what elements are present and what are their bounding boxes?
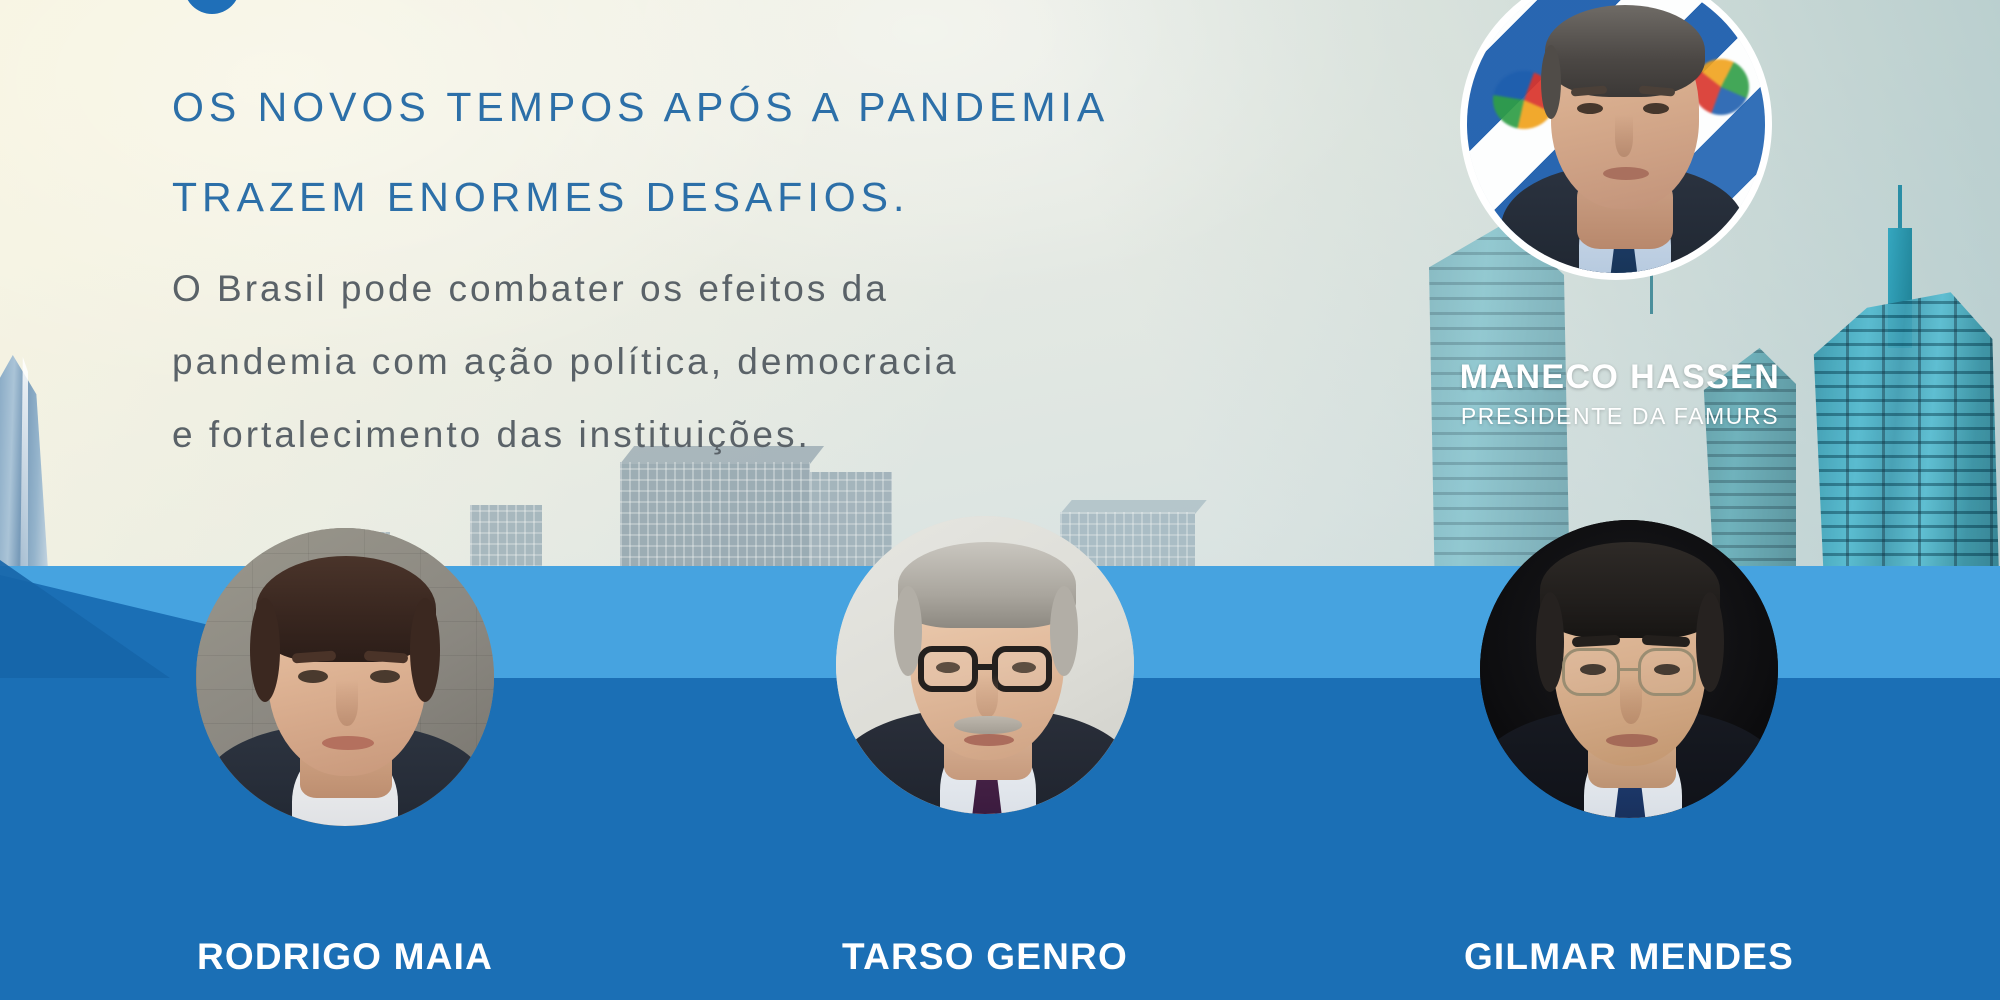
- headline-line-2: TRAZEM ENORMES DESAFIOS.: [172, 152, 1312, 242]
- genro-nose: [976, 674, 998, 718]
- subcopy-line-1: O Brasil pode combater os efeitos da: [172, 252, 1332, 325]
- speaker-name-hassen: MANECO HASSEN: [1410, 358, 1830, 397]
- genro-mouth: [964, 734, 1014, 746]
- genro-hair-side-right: [1050, 586, 1078, 676]
- caption-rodrigo-maia: RODRIGO MAIA: [135, 936, 555, 986]
- event-poster: OS NOVOS TEMPOS APÓS A PANDEMIA TRAZEM E…: [0, 0, 2000, 1000]
- hassen-hair: [1545, 5, 1705, 97]
- headline: OS NOVOS TEMPOS APÓS A PANDEMIA TRAZEM E…: [172, 62, 1312, 242]
- subcopy-line-2: pandemia com ação política, democracia: [172, 325, 1332, 398]
- mendes-mouth: [1606, 734, 1658, 747]
- subcopy-line-3: e fortalecimento das instituições.: [172, 398, 1332, 471]
- mendes-hair-side-left: [1536, 592, 1564, 692]
- headline-line-1: OS NOVOS TEMPOS APÓS A PANDEMIA: [172, 62, 1312, 152]
- maia-eye-left: [298, 670, 328, 683]
- speaker-name-genro: TARSO GENRO: [775, 936, 1195, 978]
- maia-hair: [256, 556, 436, 662]
- maia-hair-side-right: [410, 598, 440, 702]
- mendes-nose: [1620, 676, 1642, 724]
- mendes-glasses-right-lens-icon: [1638, 648, 1696, 696]
- mendes-glasses-left-lens-icon: [1562, 648, 1620, 696]
- caption-maneco-hassen: MANECO HASSEN PRESIDENTE DA FAMURS: [1410, 358, 1830, 430]
- genro-moustache: [954, 716, 1022, 734]
- genro-glasses-left-lens-icon: [918, 646, 978, 692]
- speaker-name-maia: RODRIGO MAIA: [135, 936, 555, 978]
- genro-hair: [898, 542, 1076, 628]
- hassen-eye-left: [1577, 103, 1603, 114]
- mendes-glasses-bridge-icon: [1620, 668, 1638, 671]
- caption-gilmar-mendes: GILMAR MENDES: [1419, 936, 1839, 986]
- subcopy: O Brasil pode combater os efeitos da pan…: [172, 252, 1332, 471]
- maia-eye-right: [370, 670, 400, 683]
- genro-glasses-bridge-icon: [978, 664, 994, 670]
- avatar-maneco-hassen: [1460, 0, 1772, 280]
- avatar-rodrigo-maia: [196, 528, 494, 826]
- hassen-nose: [1615, 115, 1633, 157]
- genro-glasses-right-lens-icon: [992, 646, 1052, 692]
- maia-mouth: [322, 736, 374, 750]
- hassen-mouth: [1603, 167, 1649, 180]
- avatar-tarso-genro: [836, 516, 1134, 814]
- speaker-role-hassen: PRESIDENTE DA FAMURS: [1410, 403, 1830, 430]
- maia-hair-side-left: [250, 598, 280, 702]
- maia-nose: [336, 680, 358, 726]
- avatar-gilmar-mendes: [1480, 520, 1778, 818]
- mendes-hair-side-right: [1696, 592, 1724, 692]
- speaker-name-mendes: GILMAR MENDES: [1419, 936, 1839, 978]
- caption-tarso-genro: TARSO GENRO: [775, 936, 1195, 986]
- mendes-hair: [1540, 542, 1720, 638]
- hassen-eye-right: [1643, 103, 1669, 114]
